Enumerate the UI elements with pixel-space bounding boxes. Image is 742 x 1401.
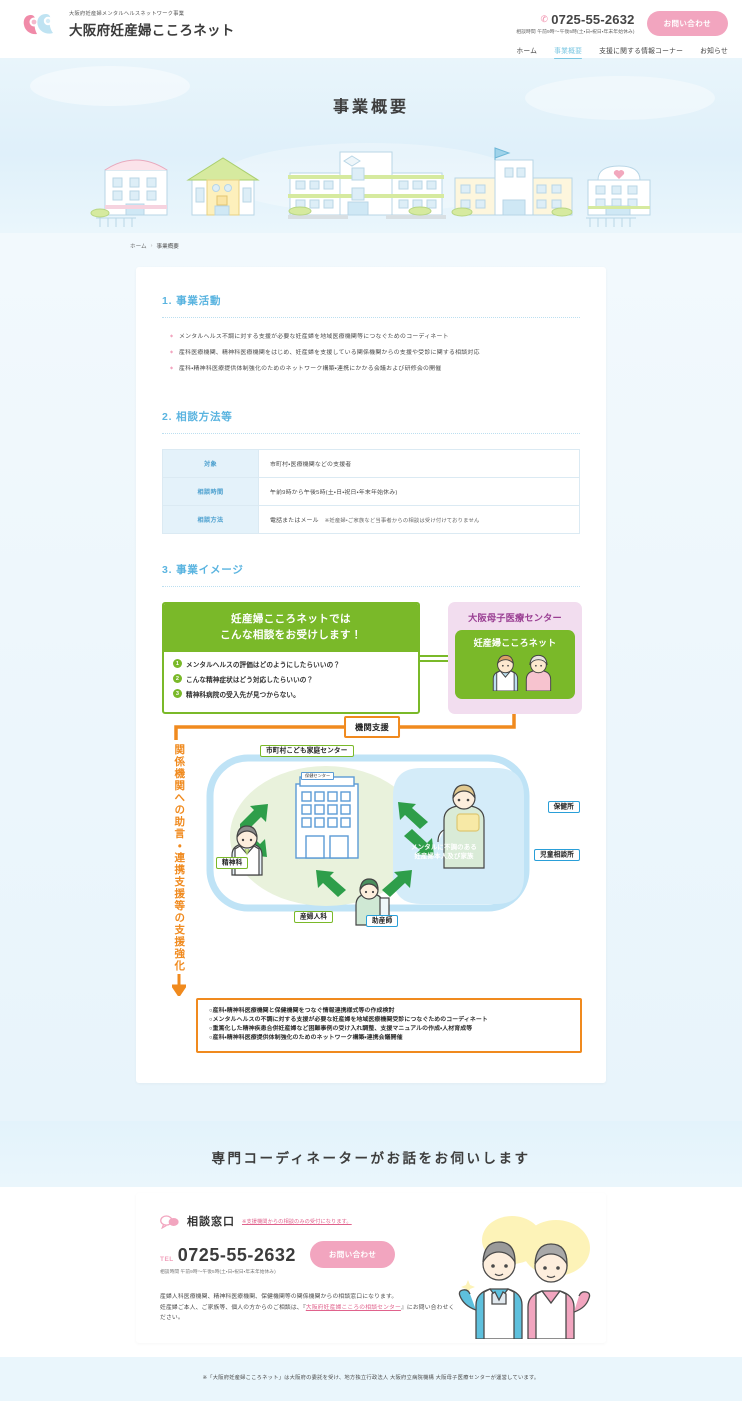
patient-line2: 妊産婦本人及び家族 [396, 853, 492, 862]
contact-title: 相談窓口 [187, 1213, 235, 1229]
diagram-top-row: 妊産婦こころネットでは こんな相談をお受けします！ 1 メンタルヘルスの評価はど… [162, 602, 582, 713]
building-label: 保健センター [301, 772, 334, 780]
green-box-heading: 妊産婦こころネットでは こんな相談をお受けします！ [164, 604, 418, 651]
contact-tel[interactable]: TEL 0725-55-2632 [160, 1245, 296, 1266]
midwife-label: 助産師 [366, 915, 398, 927]
table-cell-target: 市町村・医療機関などの支援者 [259, 450, 580, 478]
contact-section: 相談窓口 ※支援機関からの相談のみの受付になります。 TEL 0725-55-2… [0, 1187, 742, 1357]
breadcrumb: ホーム › 事業概要 [0, 233, 742, 250]
section2-title: 2. 相談方法等 [162, 409, 580, 424]
staff-illustration-icon [459, 651, 571, 691]
nav-item-home[interactable]: ホーム [516, 45, 537, 59]
list-item: 産科・精神科医療提供体制強化のためのネットワーク構築・連携にかかる会議および研修… [170, 365, 580, 374]
consultation-examples-box: 妊産婦こころネットでは こんな相談をお受けします！ 1 メンタルヘルスの評価はど… [162, 602, 420, 713]
table-header-method: 相談方法 [163, 506, 259, 534]
outcome-item: ○産科・精神科医療機関と保健機関をつなぐ情報連携様式等の作成検討 [209, 1007, 571, 1016]
site-header: 大阪府妊産婦メンタルヘルスネットワーク事業 大阪府妊産婦こころネット ✆ 072… [0, 0, 742, 58]
midwife-tag: 助産師 [366, 910, 398, 928]
consultation-center-link[interactable]: 大阪府妊産婦こころの相談センター [306, 1305, 401, 1311]
question-text: こんな精神症状はどう対応したらいいの？ [186, 674, 313, 684]
contact-inquiry-button[interactable]: お問い合わせ [310, 1241, 395, 1268]
kokoronet-name: 妊産婦こころネット [459, 636, 571, 649]
green-heading-line2: こんな相談をお受けします！ [168, 628, 414, 643]
consultation-table: 対象 市町村・医療機関などの支援者 相談時間 午前9時から午後5時(土・日・祝日… [162, 449, 580, 534]
header-tel[interactable]: ✆ 0725-55-2632 [516, 12, 634, 27]
support-connector-row: 機関支援 [162, 714, 582, 740]
logo-subtitle: 大阪府妊産婦メンタルヘルスネットワーク事業 [69, 11, 235, 17]
main-nav: ホーム 事業概要 支援に関する情報コーナー お知らせ [516, 45, 728, 59]
outcomes-box: ○産科・精神科医療機関と保健機関をつなぐ情報連携様式等の作成検討 ○メンタルヘル… [196, 998, 582, 1054]
obgyn-tag: 産婦人科 [294, 906, 333, 924]
center-title-tag: 市町村こども家庭センター [260, 740, 354, 758]
contact-note: ※支援機関からの相談のみの受付になります。 [242, 1218, 352, 1225]
question-number-icon: 3 [173, 689, 182, 698]
nav-item-info[interactable]: 支援に関する情報コーナー [599, 45, 683, 59]
cta-band: 専門コーディネーターがお話をお伺いします [0, 1121, 742, 1187]
hero-section: 事業概要 [0, 58, 742, 233]
question-number-icon: 1 [173, 659, 182, 668]
support-label: 機関支援 [344, 716, 400, 738]
contact-hours: 相談時間 午前9時〜午後5時(土・日・祝日・年末年始休み) [160, 1269, 296, 1275]
health-center-label: 保健所 [548, 801, 580, 813]
patient-label: メンタルに不調のある 妊産婦本人及び家族 [396, 844, 492, 861]
table-header-hours: 相談時間 [163, 478, 259, 506]
header-tel-note: 相談時間 午前9時〜午後5時(土・日・祝日・年末年始休み) [516, 28, 634, 35]
breadcrumb-separator-icon: › [151, 243, 153, 249]
outcomes-row: ○産科・精神科医療機関と保健機関をつなぐ情報連携様式等の作成検討 ○メンタルヘル… [162, 998, 582, 1054]
table-row: 対象 市町村・医療機関などの支援者 [163, 450, 580, 478]
connector-line-icon [420, 655, 448, 662]
contact-tel-number: 0725-55-2632 [178, 1245, 296, 1266]
section3-title: 3. 事業イメージ [162, 562, 580, 577]
green-heading-line1: 妊産婦こころネットでは [168, 612, 414, 627]
network-canvas: 市町村こども家庭センター 保健センター 精神科 産婦人科 助産師 [196, 740, 582, 940]
question-text: メンタルヘルスの評価はどのようにしたらいいの？ [186, 659, 340, 669]
header-tel-block: ✆ 0725-55-2632 相談時間 午前9時〜午後5時(土・日・祝日・年末年… [516, 12, 634, 35]
table-row: 相談方法 電話またはメール※妊産婦・ご家族など当事者からの相談は受け付けておりま… [163, 506, 580, 534]
page-title: 事業概要 [0, 58, 742, 117]
contact-card: 相談窓口 ※支援機関からの相談のみの受付になります。 TEL 0725-55-2… [136, 1193, 606, 1343]
vertical-label-col: 関係機関への助言・連携支援等の支援強化 [162, 740, 196, 996]
health-center-tag: 保健所 [548, 796, 580, 814]
psychiatry-tag: 精神科 [216, 852, 248, 870]
obgyn-label: 産婦人科 [294, 911, 333, 923]
header-tel-number: 0725-55-2632 [551, 12, 634, 27]
breadcrumb-home[interactable]: ホーム [130, 242, 147, 250]
cta-title: 専門コーディネーターがお話をお伺いします [0, 1147, 742, 1167]
center-organization-box: 大阪母子医療センター 妊産婦こころネット [448, 602, 582, 713]
logo-title: 大阪府妊産婦こころネット [69, 19, 235, 39]
child-consult-label: 児童相談所 [534, 849, 580, 861]
logo-icon [22, 8, 62, 42]
phone-icon: ✆ [540, 14, 548, 25]
chat-bubble-icon [160, 1214, 180, 1229]
center-title-label: 市町村こども家庭センター [260, 745, 354, 757]
down-arrow-icon [172, 974, 186, 996]
table-header-target: 対象 [163, 450, 259, 478]
patient-line1: メンタルに不調のある [396, 844, 492, 853]
center-name: 大阪母子医療センター [455, 610, 575, 624]
outcome-item: ○メンタルヘルスの不調に対する支援が必要な妊産婦を地域医療機関受診につなぐための… [209, 1016, 571, 1025]
footer-note: ※「大阪府妊産婦こころネット」は大阪府の委託を受け、地方独立行政法人 大阪府立病… [0, 1357, 742, 1401]
nav-item-news[interactable]: お知らせ [700, 45, 728, 59]
business-image-diagram: 妊産婦こころネットでは こんな相談をお受けします！ 1 メンタルヘルスの評価はど… [162, 602, 582, 1053]
contact-description: 産婦人科医療機関、精神科医療機関、保健機関等の関係機関からの相談窓口になります。… [160, 1292, 460, 1322]
outcome-item: ○重篤化した精神疾患合併妊産婦など困難事例の受け入れ調整、支援マニュアルの作成・… [209, 1025, 571, 1034]
tel-label: TEL [160, 1256, 174, 1263]
psychiatry-label: 精神科 [216, 857, 248, 869]
main-body: 1. 事業活動 メンタルヘルス不調に対する支援が必要な妊産婦を地域医療機関等につ… [0, 250, 742, 1121]
table-cell-hours: 午前9時から午後5時(土・日・祝日・年末年始休み) [259, 478, 580, 506]
breadcrumb-current: 事業概要 [157, 242, 179, 250]
question-item: 2 こんな精神症状はどう対応したらいいの？ [173, 674, 410, 684]
question-item: 1 メンタルヘルスの評価はどのようにしたらいいの？ [173, 659, 410, 669]
contact-desc-line2a: 妊産婦ご本人、ご家族等、個人の方からのご相談は、『 [160, 1305, 306, 1311]
content-card: 1. 事業活動 メンタルヘルス不調に対する支援が必要な妊産婦を地域医療機関等につ… [136, 267, 606, 1083]
header-right: ✆ 0725-55-2632 相談時間 午前9時〜午後5時(土・日・祝日・年末年… [516, 8, 728, 59]
network-diagram-row: 関係機関への助言・連携支援等の支援強化 [162, 740, 582, 996]
outcome-item: ○産科・精神科医療提供体制強化のためのネットワーク構築・連携会議開催 [209, 1034, 571, 1043]
divider [162, 317, 580, 318]
section1-title: 1. 事業活動 [162, 293, 580, 308]
site-logo[interactable]: 大阪府妊産婦メンタルヘルスネットワーク事業 大阪府妊産婦こころネット [22, 8, 235, 42]
table-cell-method: 電話またはメール※妊産婦・ご家族など当事者からの相談は受け付けておりません [259, 506, 580, 534]
buildings-illustration-icon [0, 138, 742, 233]
page-root: 大阪府妊産婦メンタルヘルスネットワーク事業 大阪府妊産婦こころネット ✆ 072… [0, 0, 742, 1401]
question-item: 3 精神科病院の受入先が見つからない。 [173, 689, 410, 699]
kokoronet-box: 妊産婦こころネット [455, 630, 575, 699]
nav-item-overview[interactable]: 事業概要 [554, 45, 582, 59]
list-item: 産科医療機関、精神科医療機関をはじめ、妊産婦を支援している関係機関からの支援や受… [170, 349, 580, 358]
question-number-icon: 2 [173, 674, 182, 683]
contact-desc-line1: 産婦人科医療機関、精神科医療機関、保健機関等の関係機関からの相談窓口になります。 [160, 1294, 397, 1300]
divider [162, 433, 580, 434]
coordinators-illustration-icon [450, 1214, 600, 1339]
list-item: メンタルヘルス不調に対する支援が必要な妊産婦を地域医療機関等につなぐためのコーデ… [170, 333, 580, 342]
child-consult-tag: 児童相談所 [534, 844, 580, 862]
section1-list: メンタルヘルス不調に対する支援が必要な妊産婦を地域医療機関等につなぐためのコーデ… [162, 333, 580, 374]
divider [162, 586, 580, 587]
vertical-support-label: 関係機関への助言・連携支援等の支援強化 [174, 744, 185, 972]
table-row: 相談時間 午前9時から午後5時(土・日・祝日・年末年始休み) [163, 478, 580, 506]
question-text: 精神科病院の受入先が見つからない。 [186, 689, 300, 699]
contact-button[interactable]: お問い合わせ [647, 11, 728, 36]
